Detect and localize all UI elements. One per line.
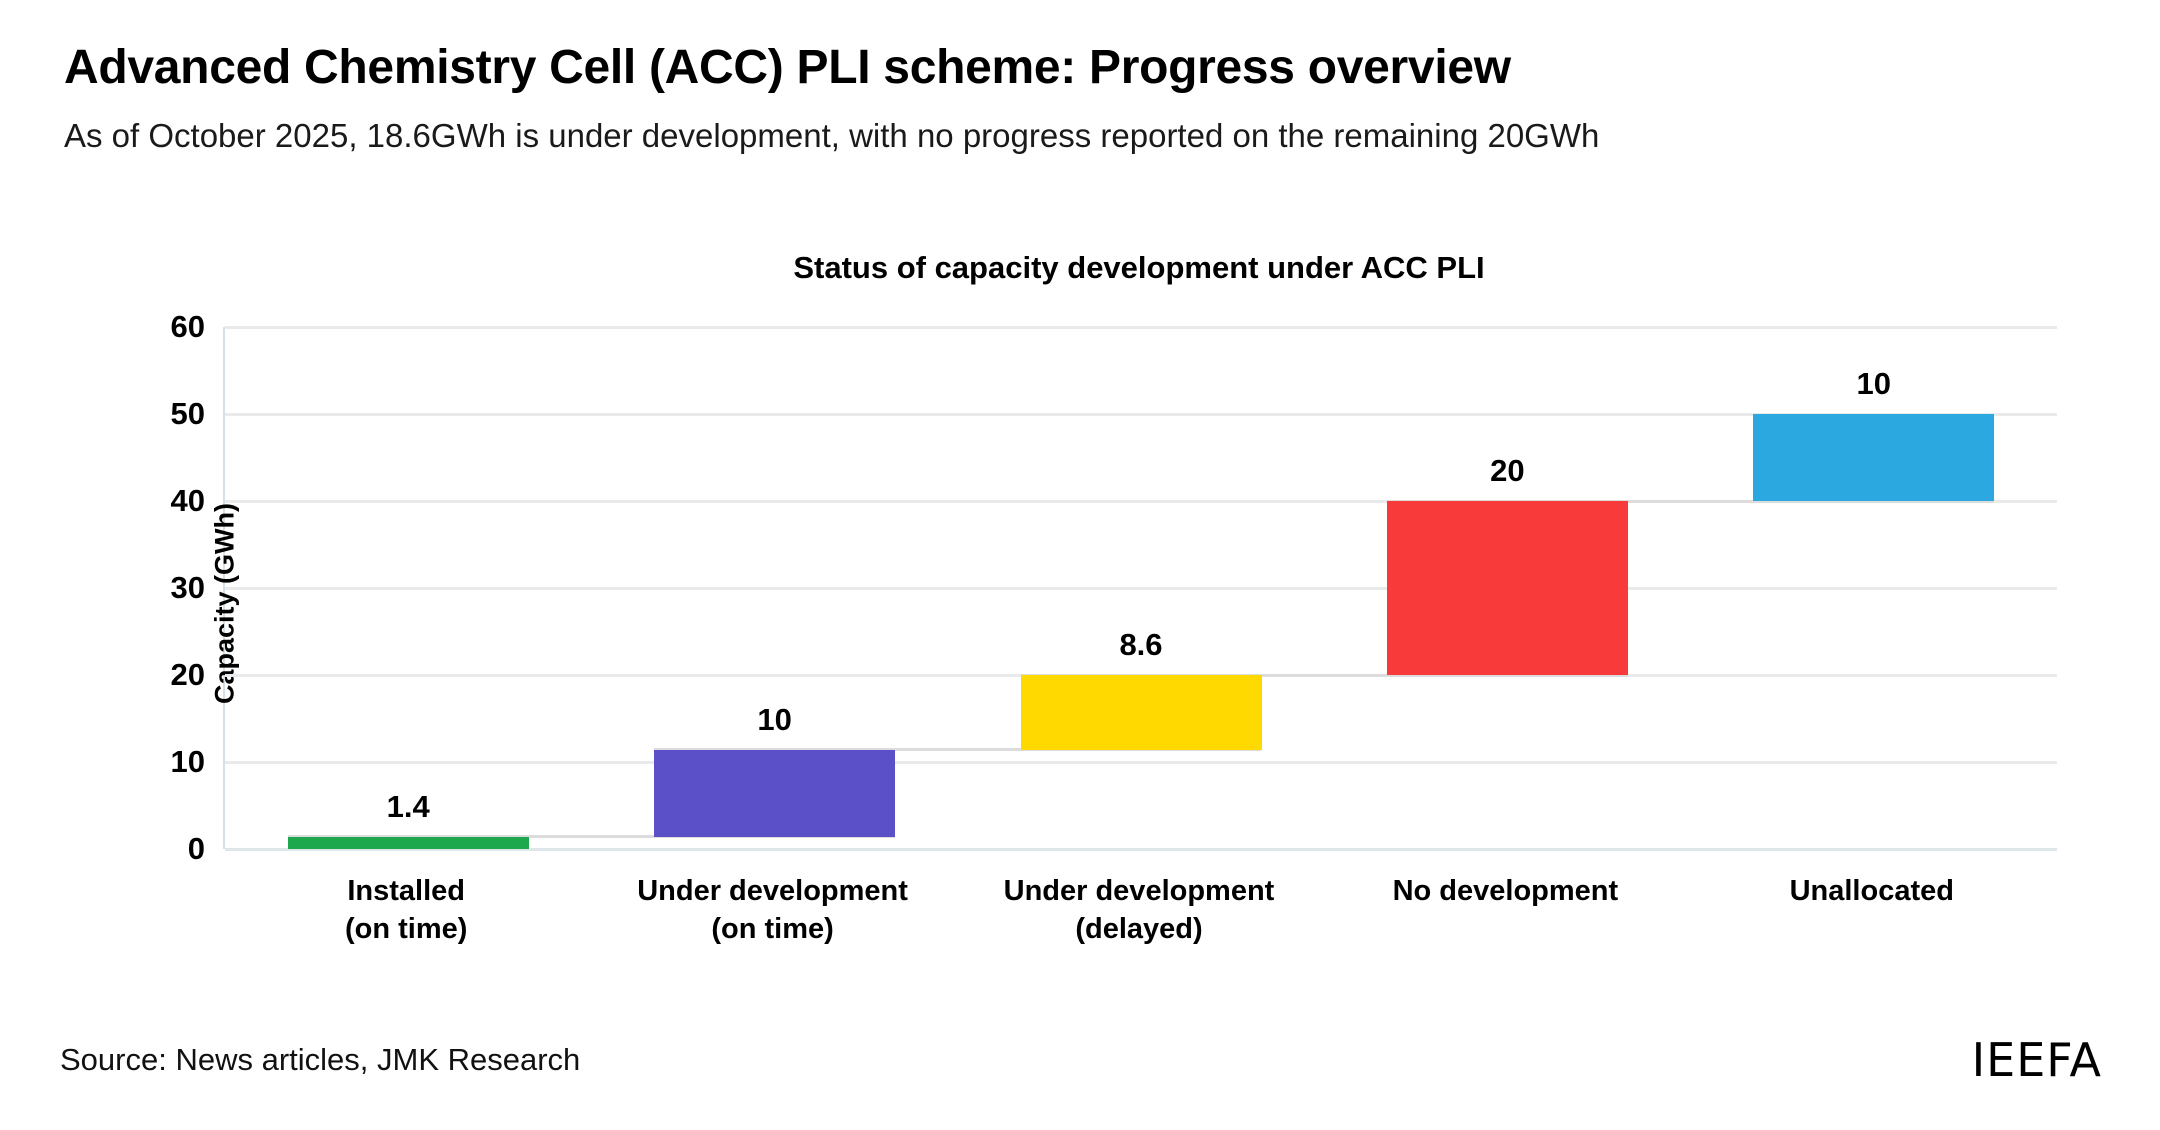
waterfall-chart: Status of capacity development under ACC… (0, 0, 2160, 1130)
bar-value-label: 1.4 (288, 789, 529, 825)
x-axis-tick-line: Unallocated (1689, 872, 2055, 910)
bar[interactable] (654, 750, 895, 837)
gridline (225, 587, 2057, 590)
y-axis-title: Capacity (GWh) (210, 424, 241, 784)
plot-area: Capacity (GWh) 1.4108.62010 (223, 327, 2055, 849)
x-axis-tick-line: (on time) (223, 910, 589, 948)
x-axis-tick-line: Under development (589, 872, 955, 910)
x-axis-tick-line: (delayed) (956, 910, 1322, 948)
x-axis-tick: Unallocated (1689, 872, 2055, 910)
bar-value-label: 10 (654, 702, 895, 738)
ieefa-logo: IEEFA (1972, 1033, 2102, 1087)
x-axis-tick: Installed(on time) (223, 872, 589, 949)
x-axis-tick-line: Under development (956, 872, 1322, 910)
bar-value-label: 10 (1753, 366, 1994, 402)
x-axis-tick: Under development(on time) (589, 872, 955, 949)
bar[interactable] (1021, 675, 1262, 750)
source-note: Source: News articles, JMK Research (60, 1042, 580, 1078)
bar[interactable] (1753, 414, 1994, 501)
x-axis-tick: No development (1322, 872, 1688, 910)
bar-value-label: 8.6 (1021, 627, 1262, 663)
y-axis-tick: 0 (85, 831, 205, 867)
x-axis-tick-labels: Installed(on time)Under development(on t… (223, 872, 2055, 982)
y-axis-tick: 40 (85, 483, 205, 519)
y-axis-tick: 10 (85, 744, 205, 780)
y-axis-tick: 20 (85, 657, 205, 693)
y-axis-tick: 30 (85, 570, 205, 606)
x-axis-tick: Under development(delayed) (956, 872, 1322, 949)
x-axis-tick-line: (on time) (589, 910, 955, 948)
gridline (225, 761, 2057, 764)
x-axis-tick-line: Installed (223, 872, 589, 910)
y-axis-tick: 50 (85, 396, 205, 432)
bar[interactable] (288, 837, 529, 849)
gridline (225, 326, 2057, 329)
x-axis-tick-line: No development (1322, 872, 1688, 910)
bar[interactable] (1387, 501, 1628, 675)
y-axis-tick: 60 (85, 309, 205, 345)
bar-value-label: 20 (1387, 453, 1628, 489)
